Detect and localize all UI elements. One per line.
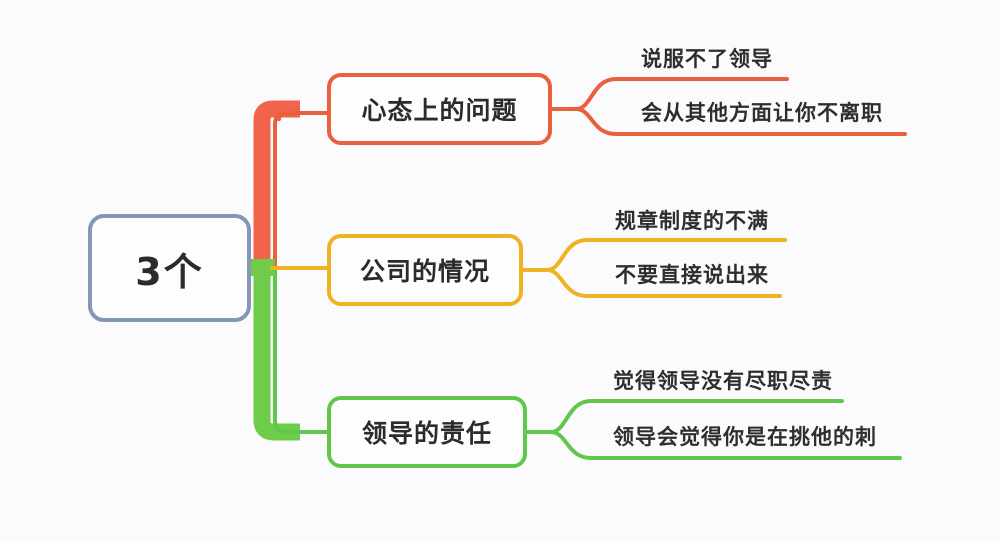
leaf-label-2-2[interactable]: 不要直接说出来 [615,259,769,289]
mindmap-canvas: 3个 心态上的问题 公司的情况 领导的责任 说服不了领导 会从其他方面让你不离职… [0,0,1000,541]
branch-node-1-label: 心态上的问题 [361,91,517,127]
leaf-label-3-2[interactable]: 领导会觉得你是在挑他的刺 [613,421,877,451]
branch-node-2-label: 公司的情况 [360,252,490,288]
leaf-label-1-2[interactable]: 会从其他方面让你不离职 [641,97,883,127]
leaf-label-2-1[interactable]: 规章制度的不满 [615,205,769,235]
leaf-label-1-1[interactable]: 说服不了领导 [641,43,773,73]
branch-node-3[interactable]: 领导的责任 [327,396,527,468]
branch-node-2[interactable]: 公司的情况 [327,234,523,306]
root-node[interactable]: 3个 [88,214,251,322]
leaf-label-3-1[interactable]: 觉得领导没有尽职尽责 [613,365,833,395]
trunk-branch-1 [262,109,327,272]
branch-node-3-label: 领导的责任 [362,414,492,450]
trunk-branch-3 [262,268,327,432]
root-node-label: 3个 [135,241,203,296]
branch-node-1[interactable]: 心态上的问题 [327,73,552,145]
